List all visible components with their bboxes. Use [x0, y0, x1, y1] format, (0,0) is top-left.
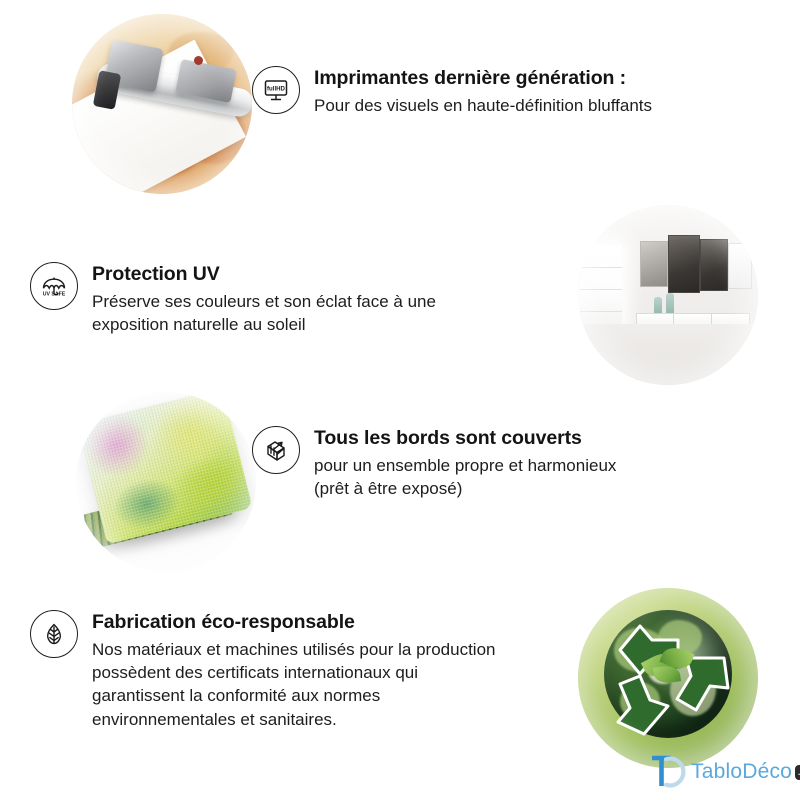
uv-safe-umbrella-icon: UV SAFE [30, 262, 78, 310]
feature-description-line: possèdent des certificats internationaux… [92, 661, 495, 684]
feature-uv-protection: UV SAFE Protection UV Préserve ses coule… [30, 262, 436, 336]
feature-description: pour un ensemble propre et harmonieux (p… [314, 454, 616, 501]
covered-edges-icon [252, 426, 300, 474]
feature-text-block: Protection UV Préserve ses couleurs et s… [92, 262, 436, 336]
feature-description-line: exposition naturelle au soleil [92, 313, 436, 336]
leaf-icon [30, 610, 78, 658]
feature-description-line: Préserve ses couleurs et son éclat face … [92, 290, 436, 313]
domain-badge: .fr [795, 765, 800, 780]
feature-description: Pour des visuels en haute-définition blu… [314, 94, 652, 117]
feature-text-block: Tous les bords sont couverts pour un ens… [314, 426, 616, 500]
window [580, 245, 622, 331]
fullhd-icon-label: fullHD [267, 86, 286, 93]
td-monogram-icon [646, 752, 686, 792]
brand-wordmark: TabloDéco™.fr [691, 760, 800, 784]
feature-eco-manufacturing: Fabrication éco-responsable Nos matériau… [30, 610, 495, 731]
feature-description-line: environnementales et sanitaires. [92, 708, 495, 731]
feature-text-block: Fabrication éco-responsable Nos matériau… [92, 610, 495, 731]
feature-description-line: (prêt à être exposé) [314, 477, 616, 500]
eco-globe-recycling-photo [578, 588, 758, 768]
feature-description-line: Nos matériaux et machines utilisés pour … [92, 638, 495, 661]
brand-logo[interactable]: TabloDéco™.fr [646, 752, 800, 792]
brand-name: TabloDéco [691, 760, 792, 783]
canvas-face [77, 392, 253, 544]
feature-title: Tous les bords sont couverts [314, 427, 616, 451]
feature-description-line: garantissent la conformité aux normes [92, 684, 495, 707]
fullhd-monitor-icon: fullHD [252, 66, 300, 114]
feature-title: Imprimantes dernière génération : [314, 67, 652, 91]
printer-indicator [194, 56, 203, 65]
feature-covered-edges: Tous les bords sont couverts pour un ens… [252, 426, 616, 500]
feature-description-line: Pour des visuels en haute-définition blu… [314, 94, 652, 117]
feature-title: Protection UV [92, 263, 436, 287]
feature-title: Fabrication éco-responsable [92, 611, 495, 635]
uv-safe-icon-label: UV SAFE [43, 292, 66, 298]
infographic-canvas: fullHD Imprimantes dernière génération :… [0, 0, 800, 800]
feature-description-line: pour un ensemble propre et harmonieux [314, 454, 616, 477]
feature-description: Nos matériaux et machines utilisés pour … [92, 638, 495, 731]
feature-description: Préserve ses couleurs et son éclat face … [92, 290, 436, 337]
printer-world-map-photo [72, 14, 252, 194]
interior-dining-room-photo [578, 205, 758, 385]
feature-printers: fullHD Imprimantes dernière génération :… [252, 66, 652, 117]
canvas-corner-photo [76, 392, 256, 572]
feature-text-block: Imprimantes dernière génération : Pour d… [314, 66, 652, 117]
